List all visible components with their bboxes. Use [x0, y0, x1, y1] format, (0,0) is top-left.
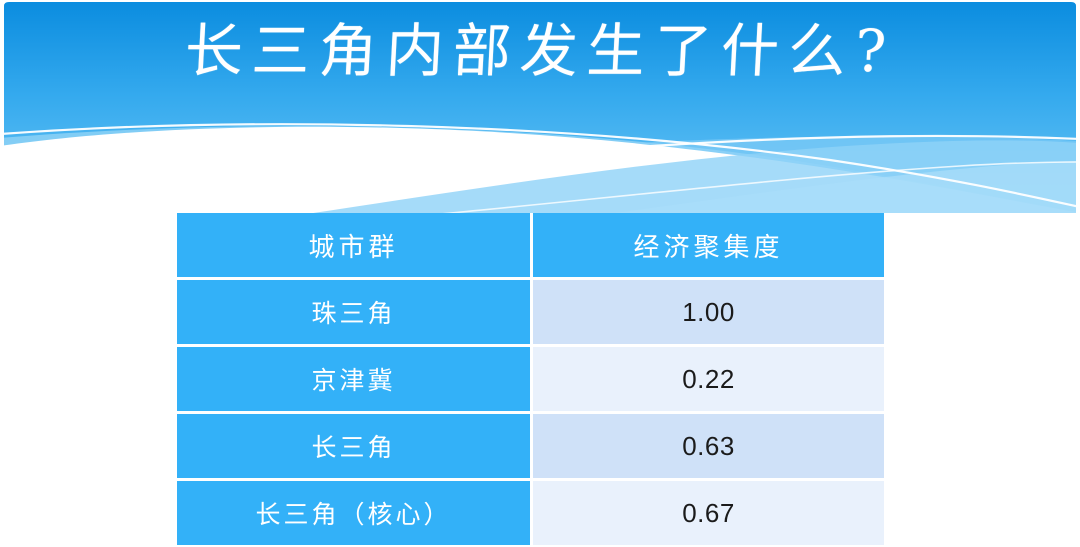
table-row: 长三角 0.63: [177, 414, 884, 478]
table-header-row: 城市群 经济聚集度: [177, 213, 884, 277]
cell-agglomeration-value: 0.63: [533, 414, 884, 478]
column-header-city-cluster: 城市群: [177, 213, 530, 277]
table-row: 珠三角 1.00: [177, 280, 884, 344]
slide-canvas: 长三角内部发生了什么? 城市群 经济聚集度 珠三角 1.00 京津冀 0.22 …: [0, 0, 1080, 547]
cell-agglomeration-value: 0.67: [533, 481, 884, 545]
cell-cluster-name: 长三角: [177, 414, 530, 478]
page-title: 长三角内部发生了什么?: [0, 18, 1080, 85]
cell-cluster-name: 长三角（核心）: [177, 481, 530, 545]
cell-agglomeration-value: 1.00: [533, 280, 884, 344]
economic-agglomeration-table: 城市群 经济聚集度 珠三角 1.00 京津冀 0.22 长三角 0.63 长三角…: [174, 210, 887, 547]
table-row: 京津冀 0.22: [177, 347, 884, 411]
table-row: 长三角（核心） 0.67: [177, 481, 884, 545]
cell-agglomeration-value: 0.22: [533, 347, 884, 411]
cell-cluster-name: 珠三角: [177, 280, 530, 344]
column-header-agglomeration: 经济聚集度: [533, 213, 884, 277]
cell-cluster-name: 京津冀: [177, 347, 530, 411]
